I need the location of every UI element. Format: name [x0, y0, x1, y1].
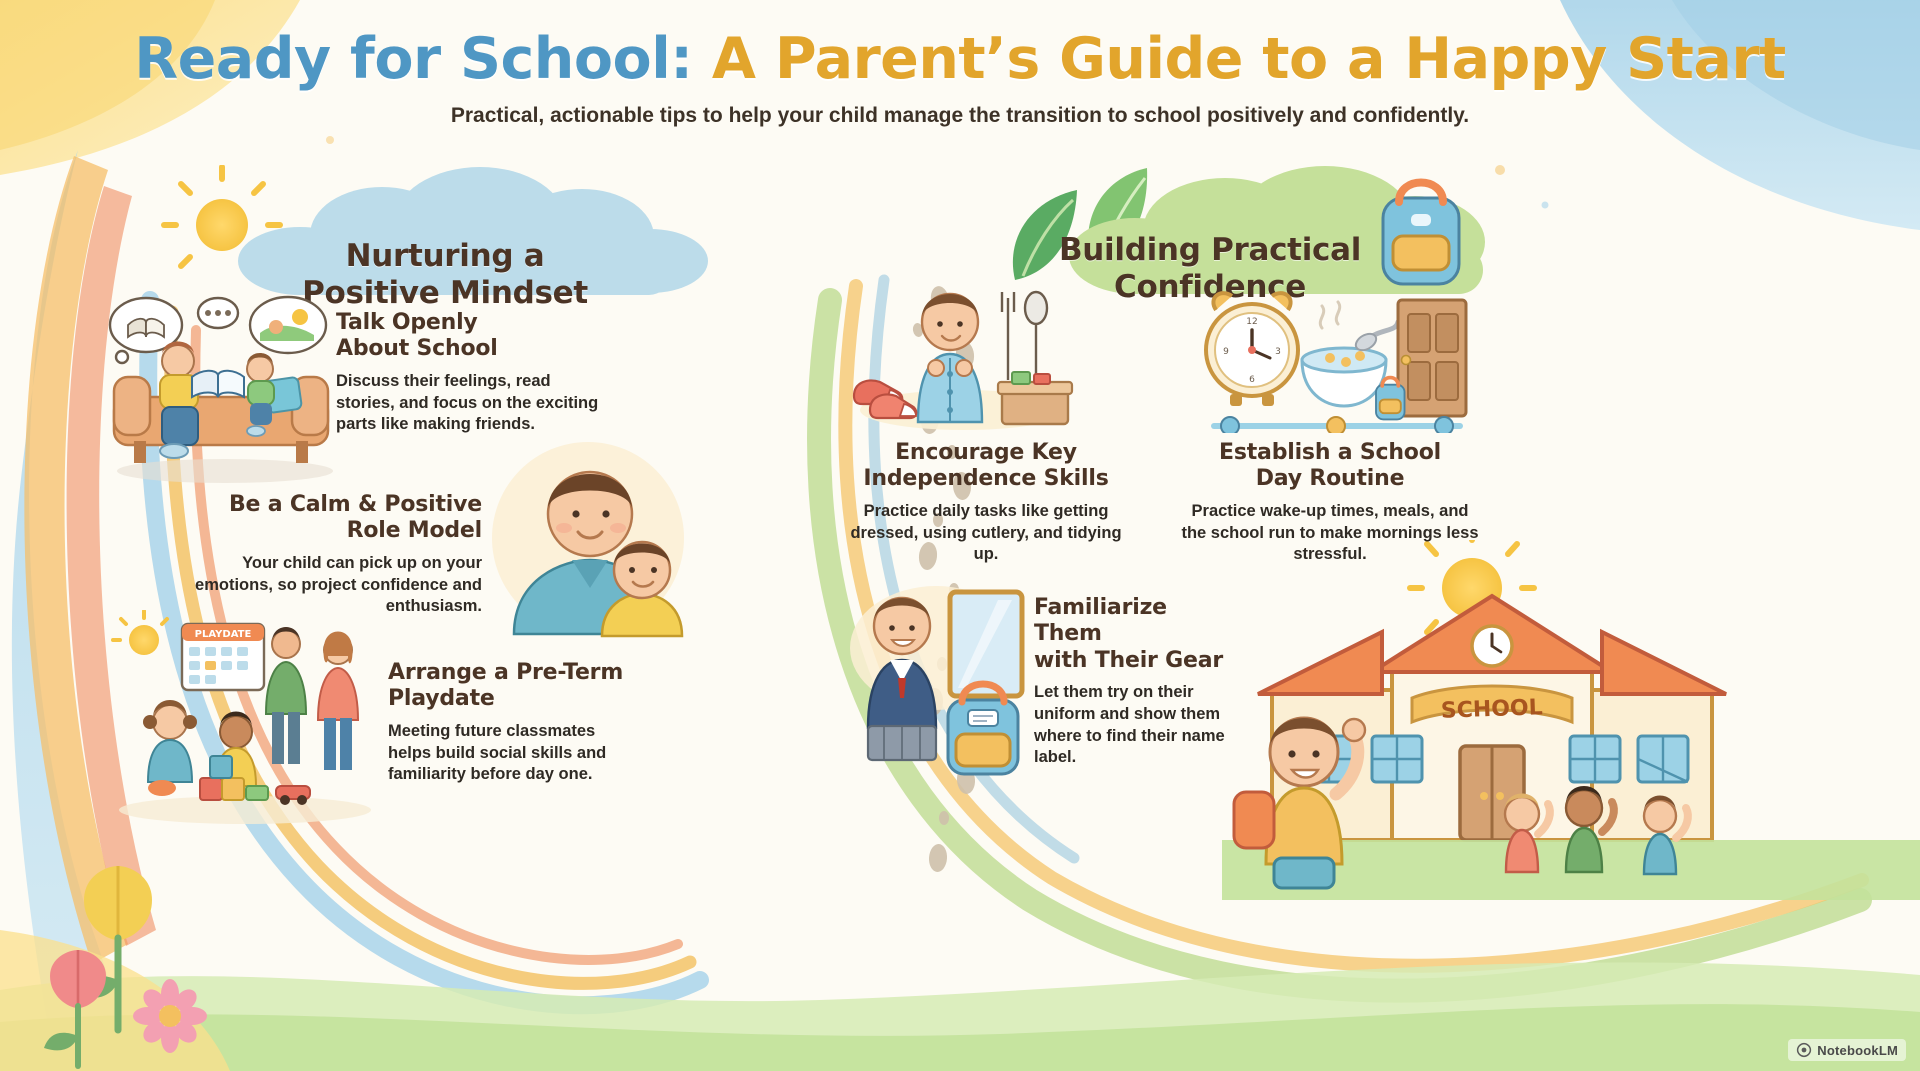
svg-text:12: 12 — [1246, 317, 1257, 327]
child-figure — [918, 294, 982, 422]
section-title-right-line1: Building Practical — [1000, 232, 1420, 269]
card-heading-line1: Talk Openly — [336, 310, 608, 336]
illustration-child-in-uniform-with-mirror-and-backpack — [846, 578, 1036, 778]
illustration-children-playing-with-blocks-and-playdate-calendar: PLAYDATE — [110, 610, 380, 825]
card-heading-line1: Arrange a Pre-Term — [388, 660, 638, 686]
tulip-icon — [78, 866, 152, 1030]
svg-text:6: 6 — [1249, 375, 1255, 385]
svg-text:PLAYDATE: PLAYDATE — [195, 629, 252, 640]
book-icon — [128, 319, 164, 337]
card-heading-line1: Establish a School — [1180, 440, 1480, 466]
watermark-label: NotebookLM — [1817, 1043, 1898, 1058]
svg-text:SCHOOL: SCHOOL — [1440, 695, 1543, 724]
svg-text:9: 9 — [1223, 347, 1229, 357]
tip-card-gear: Familiarize Them with Their Gear Let the… — [1034, 595, 1232, 769]
card-heading-line2: Day Routine — [1180, 466, 1480, 492]
page-title: Ready for School: A Parent’s Guide to a … — [0, 30, 1920, 90]
card-body: Your child can pick up on your emotions,… — [160, 553, 482, 618]
card-heading-line1: Familiarize Them — [1034, 595, 1232, 648]
mirror-icon — [950, 592, 1022, 696]
child-figure — [143, 700, 197, 796]
illustration-parent-reading-to-child-on-sofa — [100, 285, 350, 485]
playdate-calendar-icon: PLAYDATE — [182, 624, 264, 690]
card-heading-line2: Independence Skills — [836, 466, 1136, 492]
title-part-blue: Ready for School: — [134, 26, 692, 92]
infographic-poster: Ready for School: A Parent’s Guide to a … — [0, 0, 1920, 1071]
tip-card-talk-openly: Talk Openly About School Discuss their f… — [336, 310, 608, 436]
illustration-child-buttoning-shirt-with-shoes-cutlery-and-toy-box — [840, 282, 1080, 432]
tip-card-playdate: Arrange a Pre-Term Playdate Meeting futu… — [388, 660, 638, 786]
tip-card-routine: Establish a School Day Routine Practice … — [1180, 440, 1480, 566]
adult-figure — [160, 342, 198, 459]
card-heading-line1: Be a Calm & Positive — [160, 492, 482, 518]
steam-icon — [1320, 302, 1339, 328]
alarm-clock-icon: 123 69 — [1206, 293, 1298, 406]
card-body: Meeting future classmates helps build so… — [388, 721, 638, 786]
illustration-school-building-with-waving-children: SCHOOL — [1222, 540, 1920, 900]
title-part-gold: A Parent’s Guide to a Happy Start — [712, 26, 1786, 92]
watermark: NotebookLM — [1788, 1039, 1906, 1061]
card-heading-line2: Playdate — [388, 686, 638, 712]
child-figure — [868, 598, 936, 760]
card-body: Let them try on their uniform and show t… — [1034, 682, 1232, 769]
card-body: Practice wake-up times, meals, and the s… — [1180, 501, 1480, 566]
card-heading-line2: Role Model — [160, 518, 482, 544]
adult-figure — [318, 632, 358, 771]
tip-card-role-model: Be a Calm & Positive Role Model Your chi… — [160, 492, 482, 618]
tip-card-independence: Encourage Key Independence Skills Practi… — [836, 440, 1136, 566]
card-heading-line2: About School — [336, 336, 608, 362]
adult-figure — [266, 627, 306, 764]
open-book — [192, 371, 244, 397]
card-heading-line2: with Their Gear — [1034, 648, 1232, 674]
sun-icon — [113, 611, 167, 655]
section-title-left-line1: Nurturing a — [235, 238, 655, 275]
cutlery-icon — [1002, 292, 1047, 380]
card-body: Discuss their feelings, read stories, an… — [336, 371, 608, 436]
page-subtitle: Practical, actionable tips to help your … — [0, 104, 1920, 128]
tulip-icon — [44, 950, 106, 1066]
card-heading-line1: Encourage Key — [836, 440, 1136, 466]
svg-text:3: 3 — [1275, 347, 1281, 357]
daisy-icon — [133, 979, 207, 1053]
routine-timeline — [1214, 417, 1460, 433]
illustration-smiling-father-with-child — [484, 438, 702, 638]
card-body: Practice daily tasks like getting dresse… — [836, 501, 1136, 566]
notebooklm-logo-icon — [1796, 1042, 1812, 1058]
name-label-icon — [968, 710, 998, 726]
front-door-icon — [1398, 300, 1466, 416]
poster-header: Ready for School: A Parent’s Guide to a … — [0, 30, 1920, 128]
illustration-alarm-clock-breakfast-bowl-and-front-door: 123 69 — [1190, 288, 1480, 433]
